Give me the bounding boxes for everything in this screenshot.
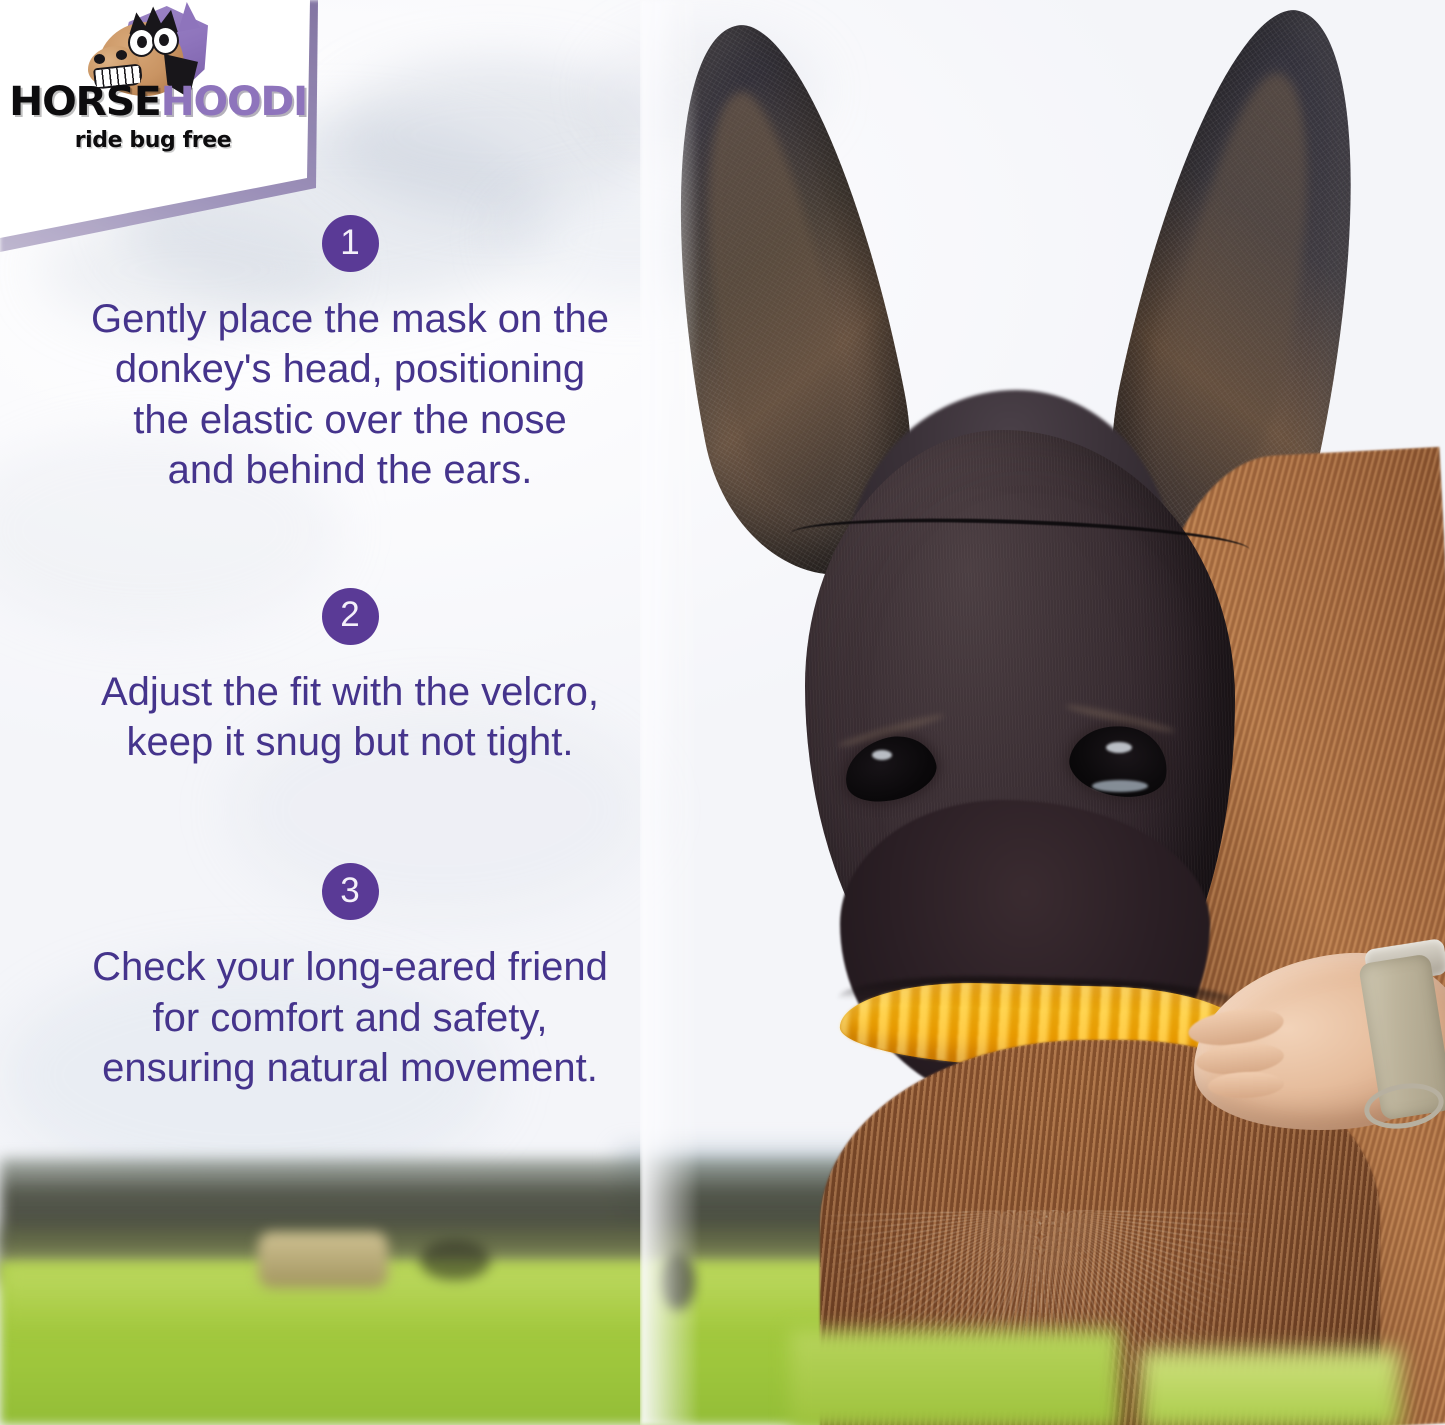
logo-word-horse: HORSE bbox=[9, 79, 160, 125]
grass-behind-donkey bbox=[1140, 1350, 1400, 1425]
cartoon-eye-left bbox=[128, 28, 155, 57]
grazing-animal bbox=[420, 1240, 490, 1280]
cartoon-nostril bbox=[94, 54, 105, 64]
cartoon-pupil bbox=[159, 34, 169, 46]
instruction-steps: 1 Gently place the mask on the donkey's … bbox=[0, 215, 700, 1094]
logo-tagline: ride bug free bbox=[12, 128, 294, 153]
promo-graphic: HORSEHOODIES ride bug free 1 Gently plac… bbox=[0, 0, 1445, 1425]
hay-bale bbox=[258, 1232, 388, 1288]
cartoon-eye-right bbox=[152, 26, 179, 55]
step-3-text: Check your long-eared friend for comfort… bbox=[0, 942, 700, 1093]
step-1: 1 Gently place the mask on the donkey's … bbox=[0, 215, 700, 496]
step-3-badge: 3 bbox=[322, 863, 379, 920]
eye-gleam bbox=[872, 750, 892, 760]
step-1-badge: 1 bbox=[322, 215, 379, 272]
cartoon-pupil bbox=[137, 36, 147, 48]
step-2: 2 Adjust the fit with the velcro, keep i… bbox=[0, 588, 700, 768]
step-2-badge: 2 bbox=[322, 588, 379, 645]
step-1-text: Gently place the mask on the donkey's he… bbox=[0, 294, 700, 496]
step-2-text: Adjust the fit with the velcro, keep it … bbox=[0, 667, 700, 768]
cartoon-nostril bbox=[116, 50, 127, 60]
grass-behind-donkey bbox=[790, 1330, 1120, 1425]
eye-gleam bbox=[1106, 742, 1132, 753]
eye-lower-lid bbox=[1092, 780, 1148, 792]
logo-wordmark: HORSEHOODIES bbox=[9, 82, 297, 122]
donkey-photo bbox=[640, 0, 1445, 1425]
step-3: 3 Check your long-eared friend for comfo… bbox=[0, 863, 700, 1093]
